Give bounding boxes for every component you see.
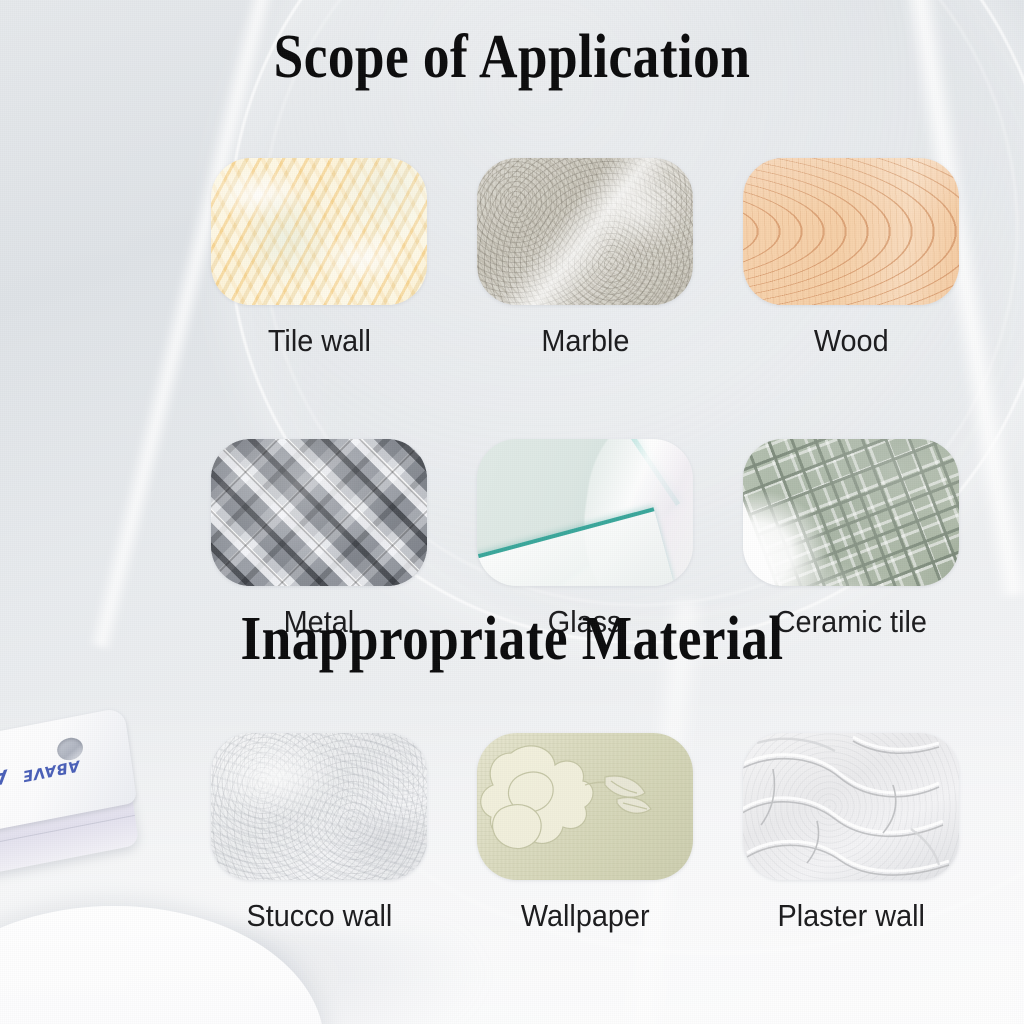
material-label: Stucco wall [246, 898, 392, 934]
material-label: Wallpaper [521, 898, 650, 934]
material-card-stucco-wall[interactable]: Stucco wall [186, 733, 452, 934]
glass-swatch[interactable] [477, 439, 693, 586]
product-brand-text-primary: ABAVE [0, 765, 9, 801]
tile-wall-texture [211, 158, 427, 305]
marble-swatch[interactable] [477, 158, 693, 305]
wallpaper-texture [477, 733, 693, 880]
marble-texture [477, 158, 693, 305]
wallpaper-floral-motif [477, 733, 693, 880]
material-card-tile-wall[interactable]: Tile wall [186, 158, 452, 359]
metal-swatch[interactable] [211, 439, 427, 586]
material-card-wallpaper[interactable]: Wallpaper [452, 733, 718, 934]
wood-texture [743, 158, 959, 305]
stucco-wall-swatch[interactable] [211, 733, 427, 880]
material-card-plaster-wall[interactable]: Plaster wall [718, 733, 984, 934]
tile-wall-swatch[interactable] [211, 158, 427, 305]
material-label: Tile wall [267, 323, 370, 359]
stucco-wall-texture [211, 733, 427, 880]
wallpaper-swatch[interactable] [477, 733, 693, 880]
pedestal-shadow [150, 930, 490, 1024]
product-box: ABAVE ABAVE Company [0, 707, 145, 895]
glass-texture [477, 439, 693, 586]
inappropriate-material-grid: Stucco wall [186, 733, 1024, 934]
ceramic-tile-swatch[interactable] [743, 439, 959, 586]
material-label: Plaster wall [777, 898, 924, 934]
material-label: Wood [814, 323, 889, 359]
product-brand-text-secondary: ABAVE [21, 757, 80, 786]
ceramic-tile-texture [743, 439, 959, 586]
glass-gloss-highlight [572, 439, 693, 586]
page-title-inappropriate-material: Inappropriate Material [72, 604, 953, 675]
ceramic-white-fade [743, 439, 959, 586]
plaster-wall-swatch[interactable] [743, 733, 959, 880]
infographic-canvas: ABAVE ABAVE Company Scope of Application… [0, 0, 1024, 1024]
metal-texture [211, 439, 427, 586]
wood-swatch[interactable] [743, 158, 959, 305]
material-card-marble[interactable]: Marble [452, 158, 718, 359]
plaster-trowel-strokes [743, 733, 959, 880]
plaster-wall-texture [743, 733, 959, 880]
page-title-scope-of-application: Scope of Application [72, 22, 953, 93]
material-card-wood[interactable]: Wood [718, 158, 984, 359]
material-label: Marble [541, 323, 629, 359]
scope-material-grid: Tile wall Marble Wood Metal [186, 158, 1024, 640]
